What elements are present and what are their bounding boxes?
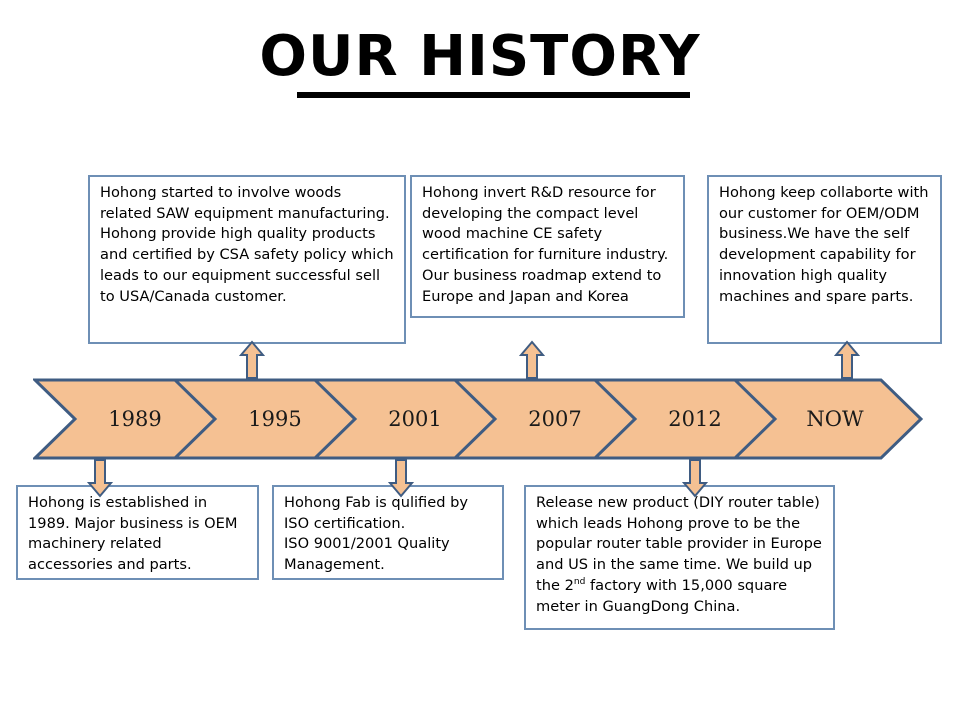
info-box-2012-superscript: nd [574, 577, 585, 587]
page-title-block: OUR HISTORY [0, 28, 960, 87]
title-underline-rule [297, 92, 690, 98]
info-box-2012: Release new product (DIY router table) w… [524, 485, 835, 630]
page-title: OUR HISTORY [0, 28, 960, 87]
info-box-2007: Hohong invert R&D resource for developin… [410, 175, 685, 318]
info-box-1995: Hohong started to involve woods related … [88, 175, 406, 344]
timeline-chevron-now[interactable]: NOW [733, 378, 923, 460]
up-arrow-icon-2007 [519, 340, 545, 380]
info-box-1989: Hohong is established in 1989. Major bus… [16, 485, 259, 580]
up-arrow-icon-1995 [239, 340, 265, 380]
info-box-2001: Hohong Fab is qulified by ISO certificat… [272, 485, 504, 580]
timeline-chevron-row: 1989 1995 2001 2007 2012 NOW [0, 378, 960, 468]
up-arrow-icon-now [834, 340, 860, 380]
info-box-now: Hohong keep collaborte with our customer… [707, 175, 942, 344]
